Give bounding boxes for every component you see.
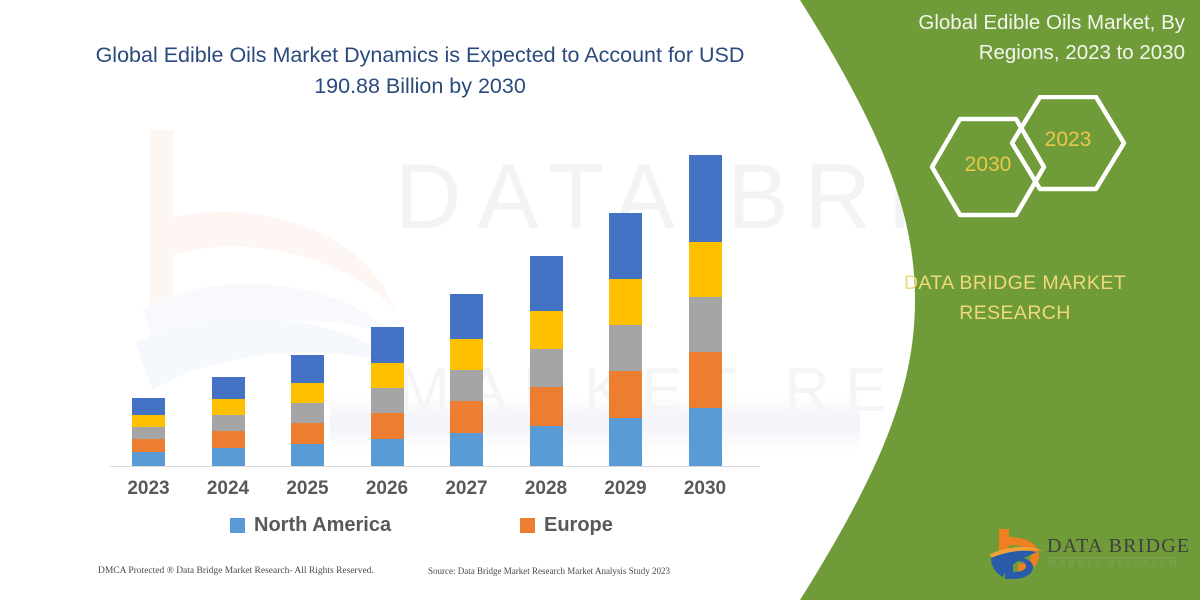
x-axis-label-2026: 2026 bbox=[347, 478, 427, 500]
footer-source: Source: Data Bridge Market Research Mark… bbox=[428, 566, 670, 576]
bar-segment bbox=[371, 413, 404, 439]
bar-group bbox=[110, 140, 760, 466]
bar-segment bbox=[132, 439, 165, 452]
bar-segment bbox=[450, 339, 483, 370]
x-axis-label-2029: 2029 bbox=[586, 478, 666, 500]
bar-segment bbox=[689, 408, 722, 466]
legend-swatch-icon bbox=[230, 518, 245, 533]
bar-segment bbox=[291, 383, 324, 403]
data-bridge-logo-icon bbox=[985, 525, 1047, 583]
chart-title: Global Edible Oils Market Dynamics is Ex… bbox=[60, 40, 780, 102]
bar-segment bbox=[212, 399, 245, 415]
x-axis-labels: 20232024202520262027202820292030 bbox=[110, 478, 760, 506]
x-axis-label-2028: 2028 bbox=[506, 478, 586, 500]
bar-segment bbox=[530, 311, 563, 349]
legend-label: Europe bbox=[544, 514, 613, 537]
bar-segment bbox=[450, 294, 483, 339]
hexagon-label-2030: 2030 bbox=[942, 153, 1034, 177]
bar-segment bbox=[291, 444, 324, 466]
x-axis-label-2025: 2025 bbox=[268, 478, 348, 500]
bar-segment bbox=[689, 297, 722, 352]
bar-segment bbox=[689, 352, 722, 408]
bar-segment bbox=[291, 423, 324, 444]
bar-segment bbox=[212, 377, 245, 399]
x-axis-label-2023: 2023 bbox=[109, 478, 189, 500]
brand-panel: Global Edible Oils Market, By Regions, 2… bbox=[780, 0, 1200, 600]
brand-name: DATA BRIDGE MARKET RESEARCH bbox=[855, 268, 1175, 328]
bar-segment bbox=[371, 388, 404, 413]
bar-segment bbox=[450, 401, 483, 433]
x-axis-label-2030: 2030 bbox=[665, 478, 745, 500]
brand-panel-content: Global Edible Oils Market, By Regions, 2… bbox=[780, 0, 1200, 600]
bar-segment bbox=[212, 415, 245, 431]
bar-segment bbox=[212, 448, 245, 466]
bar-segment bbox=[212, 431, 245, 448]
bar-segment bbox=[609, 325, 642, 371]
bar-2024 bbox=[212, 377, 245, 466]
brand-name-line-1: DATA BRIDGE MARKET bbox=[855, 268, 1175, 298]
legend-item-europe[interactable]: Europe bbox=[520, 514, 613, 537]
x-axis-label-2027: 2027 bbox=[427, 478, 507, 500]
bar-segment bbox=[450, 370, 483, 401]
brand-name-line-2: RESEARCH bbox=[855, 298, 1175, 328]
bar-segment bbox=[689, 242, 722, 297]
bar-segment bbox=[291, 403, 324, 423]
footer-copyright: DMCA Protected ® Data Bridge Market Rese… bbox=[98, 566, 374, 576]
bar-segment bbox=[530, 426, 563, 466]
bar-segment bbox=[132, 427, 165, 439]
bar-segment bbox=[132, 415, 165, 427]
bar-segment bbox=[609, 418, 642, 466]
bar-segment bbox=[530, 256, 563, 311]
hexagon-label-2023: 2023 bbox=[1022, 128, 1114, 152]
bar-2029 bbox=[609, 213, 642, 466]
x-axis-label-2024: 2024 bbox=[188, 478, 268, 500]
bar-segment bbox=[609, 213, 642, 279]
bar-segment bbox=[371, 363, 404, 388]
chart-panel: DATA BRIDGE MARKET RESEARCH Global Edibl… bbox=[0, 0, 860, 600]
footer: DMCA Protected ® Data Bridge Market Rese… bbox=[0, 566, 800, 592]
bar-2028 bbox=[530, 256, 563, 466]
infographic-stage: DATA BRIDGE MARKET RESEARCH Global Edibl… bbox=[0, 0, 1200, 600]
bar-segment bbox=[132, 398, 165, 415]
legend-swatch-icon bbox=[520, 518, 535, 533]
bar-segment bbox=[609, 279, 642, 325]
bar-segment bbox=[689, 155, 722, 242]
bar-segment bbox=[371, 327, 404, 363]
bar-segment bbox=[530, 387, 563, 426]
company-logo: DATA BRIDGE MARKET RESEARCH bbox=[985, 525, 1195, 587]
bar-2023 bbox=[132, 398, 165, 466]
bar-2027 bbox=[450, 294, 483, 466]
logo-tagline: MARKET RESEARCH bbox=[1048, 559, 1179, 569]
panel-title: Global Edible Oils Market, By Regions, 2… bbox=[840, 8, 1185, 68]
legend-item-north-america[interactable]: North America bbox=[230, 514, 391, 537]
bar-2025 bbox=[291, 355, 324, 466]
bar-2030 bbox=[689, 155, 722, 466]
bar-segment bbox=[371, 439, 404, 466]
x-axis-line bbox=[110, 466, 760, 467]
bar-segment bbox=[609, 371, 642, 418]
bar-segment bbox=[450, 433, 483, 466]
legend-label: North America bbox=[254, 514, 391, 537]
logo-divider bbox=[1047, 557, 1175, 558]
bar-segment bbox=[291, 355, 324, 383]
hexagon-group: 2030 2023 bbox=[900, 95, 1160, 235]
bar-2026 bbox=[371, 327, 404, 466]
logo-wordmark: DATA BRIDGE bbox=[1047, 535, 1190, 558]
bar-segment bbox=[530, 349, 563, 387]
chart-legend: North AmericaEurope bbox=[110, 512, 760, 542]
bar-segment bbox=[132, 452, 165, 466]
